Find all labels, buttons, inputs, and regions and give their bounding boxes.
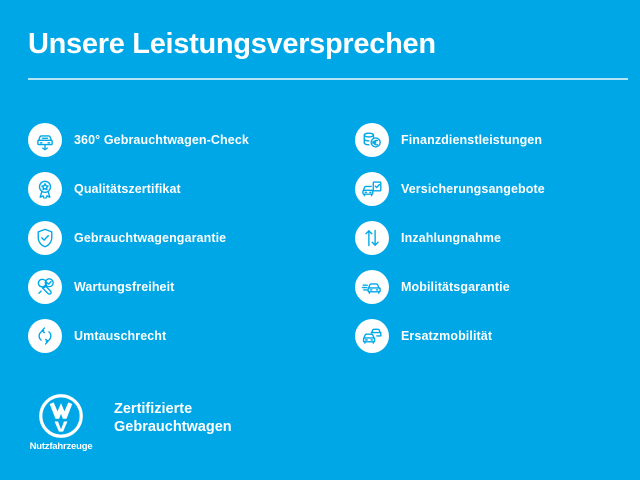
footer-claim: Zertifizierte Gebrauchtwagen [114, 400, 232, 436]
promise-label: 360° Gebrauchtwagen-Check [74, 133, 249, 147]
promise-item: Finanzdienstleistungen [355, 118, 628, 162]
promise-item: Ersatzmobilität [355, 314, 628, 358]
page-title: Unsere Leistungsversprechen [28, 26, 628, 62]
promise-item: Gebrauchtwagengarantie [28, 216, 355, 260]
footer-claim-line-1: Zertifizierte [114, 400, 232, 418]
promise-label: Inzahlungnahme [401, 231, 501, 245]
up-down-arrows-icon [355, 221, 389, 255]
title-divider [28, 78, 628, 80]
promise-item: Wartungsfreiheit [28, 265, 355, 309]
promise-item: Mobilitätsgarantie [355, 265, 628, 309]
brand-subline: Nutzfahrzeuge [30, 441, 93, 452]
two-cars-icon [355, 319, 389, 353]
promise-item: 360° Gebrauchtwagen-Check [28, 118, 355, 162]
shield-check-icon [28, 221, 62, 255]
promise-label: Ersatzmobilität [401, 329, 492, 343]
promise-label: Umtauschrecht [74, 329, 166, 343]
promise-columns: 360° Gebrauchtwagen-Check Qualitätszerti… [28, 118, 628, 358]
promise-label: Versicherungsangebote [401, 182, 545, 196]
promise-label: Finanzdienstleistungen [401, 133, 542, 147]
promise-column-right: Finanzdienstleistungen Versicherungsange… [355, 118, 628, 358]
vw-logo-icon [38, 393, 84, 439]
car-motion-icon [355, 270, 389, 304]
promise-column-left: 360° Gebrauchtwagen-Check Qualitätszerti… [28, 118, 355, 358]
car-document-check-icon [355, 172, 389, 206]
promise-item: Umtauschrecht [28, 314, 355, 358]
award-seal-icon [28, 172, 62, 206]
promise-item: Qualitätszertifikat [28, 167, 355, 211]
promise-label: Gebrauchtwagengarantie [74, 231, 226, 245]
header: Unsere Leistungsversprechen [28, 26, 628, 80]
promise-item: Versicherungsangebote [355, 167, 628, 211]
exchange-arrows-icon [28, 319, 62, 353]
car-check-icon [28, 123, 62, 157]
promise-label: Qualitätszertifikat [74, 182, 181, 196]
wrench-check-icon [28, 270, 62, 304]
footer-claim-line-2: Gebrauchtwagen [114, 418, 232, 436]
coins-euro-icon [355, 123, 389, 157]
footer-brand-lockup: Nutzfahrzeuge Zertifizierte Gebrauchtwag… [28, 393, 232, 452]
promise-label: Wartungsfreiheit [74, 280, 174, 294]
slide-canvas: Unsere Leistungsversprechen 360° Gebrauc [0, 0, 640, 480]
promise-label: Mobilitätsgarantie [401, 280, 510, 294]
brand-mark: Nutzfahrzeuge [28, 393, 94, 452]
promise-item: Inzahlungnahme [355, 216, 628, 260]
